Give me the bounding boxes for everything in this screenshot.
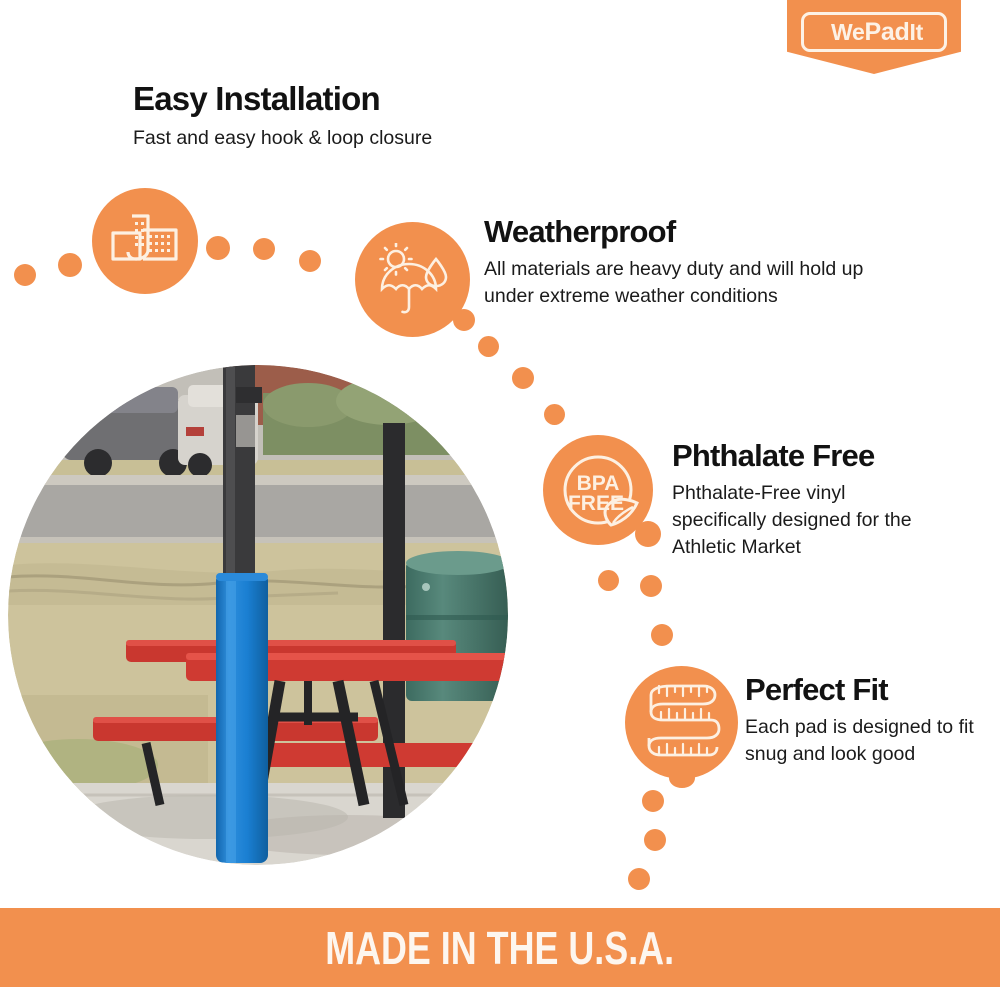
connector-dot: [544, 404, 565, 425]
feature-body-phthalate-free: Phthalate-Free vinyl specifically design…: [672, 480, 942, 561]
connector-dot: [58, 253, 82, 277]
feature-body-easy-installation: Fast and easy hook & loop closure: [133, 125, 553, 152]
bpa-label-line2: FREE: [568, 492, 624, 515]
feature-title-easy-installation: Easy Installation: [133, 80, 380, 118]
bpa-free-icon-circle[interactable]: BPA FREE: [543, 435, 653, 545]
weatherproof-icon-circle[interactable]: [355, 222, 470, 337]
logo-wordmark: WePadIt: [804, 15, 950, 49]
connector-dot: [598, 570, 619, 591]
blob-bump: [669, 768, 695, 788]
connector-dot: [642, 790, 664, 812]
feature-title-weatherproof: Weatherproof: [484, 214, 675, 250]
measuring-tape-icon: [639, 681, 725, 765]
connector-dot: [644, 829, 666, 851]
connector-dot: [512, 367, 534, 389]
feature-body-weatherproof: All materials are heavy duty and will ho…: [484, 256, 914, 310]
feature-body-perfect-fit: Each pad is designed to fit snug and loo…: [745, 714, 980, 768]
connector-dot: [640, 575, 662, 597]
connector-dot: [253, 238, 275, 260]
logo-text-pad: Pad: [865, 18, 910, 46]
hook-and-loop-icon: [110, 210, 180, 272]
product-photo-pole-pad: [8, 365, 508, 865]
made-in-usa-label: MADE IN THE U.S.A.: [326, 921, 675, 975]
connector-dot: [478, 336, 499, 357]
logo-outline-box: WePadIt: [801, 12, 947, 52]
product-infographic-page: WePadIt Easy Installation Fast and easy …: [0, 0, 1000, 987]
blob-bump: [453, 309, 475, 331]
hook-and-loop-icon-circle[interactable]: [92, 188, 198, 294]
umbrella-sun-rain-icon: [374, 243, 452, 317]
made-in-usa-banner: MADE IN THE U.S.A.: [0, 908, 1000, 987]
logo-text-we: We: [831, 19, 865, 45]
feature-title-phthalate-free: Phthalate Free: [672, 438, 874, 474]
feature-title-perfect-fit: Perfect Fit: [745, 672, 888, 708]
logo-text-it: It: [910, 19, 923, 45]
connector-dot: [14, 264, 36, 286]
connector-dot: [299, 250, 321, 272]
brand-logo[interactable]: WePadIt: [787, 0, 961, 74]
connector-dot: [651, 624, 673, 646]
bpa-free-leaf-icon: BPA FREE: [553, 445, 643, 535]
connector-dot: [628, 868, 650, 890]
perfect-fit-icon-circle[interactable]: [625, 666, 738, 779]
connector-dot: [206, 236, 230, 260]
